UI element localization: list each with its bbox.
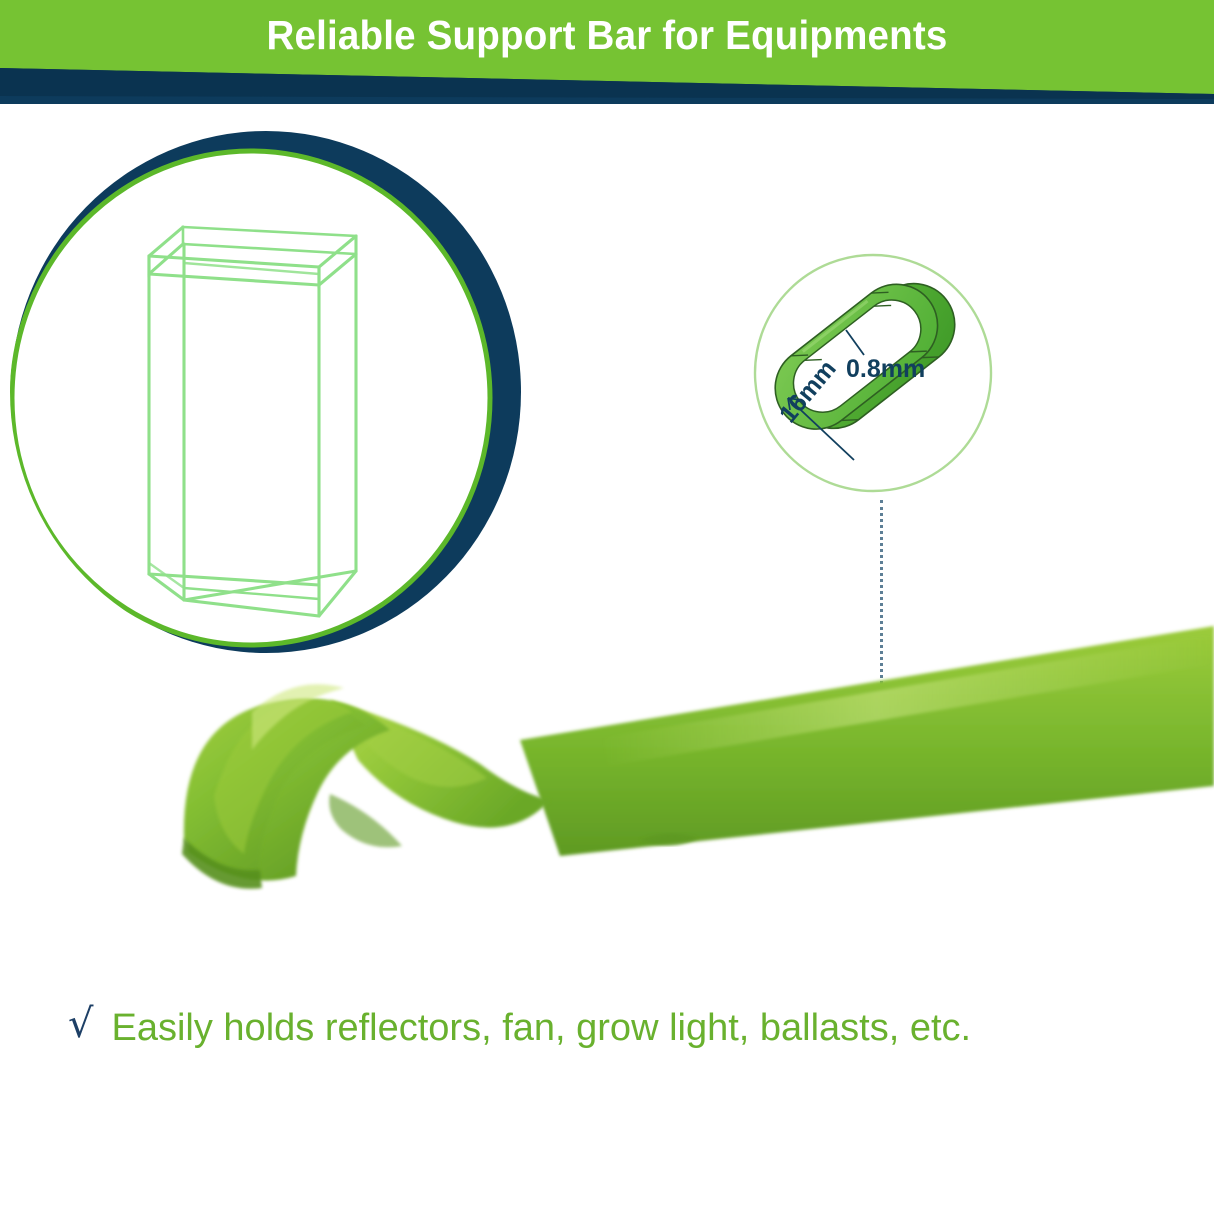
infographic-page: Reliable Support Bar for Equipments [0, 0, 1214, 1214]
grow-tent-frame-icon [8, 126, 524, 658]
green-support-bar-photo [0, 590, 1214, 920]
tent-inset-circle [8, 126, 524, 658]
caption-text: Easily holds reflectors, fan, grow light… [112, 1009, 972, 1047]
header-banner: Reliable Support Bar for Equipments [0, 0, 1214, 104]
check-icon: √ [68, 1004, 94, 1044]
feature-caption: √ Easily holds reflectors, fan, grow lig… [68, 1000, 1168, 1056]
wall-thickness-label: 0.8mm [846, 355, 925, 384]
page-title: Reliable Support Bar for Equipments [36, 12, 1177, 59]
